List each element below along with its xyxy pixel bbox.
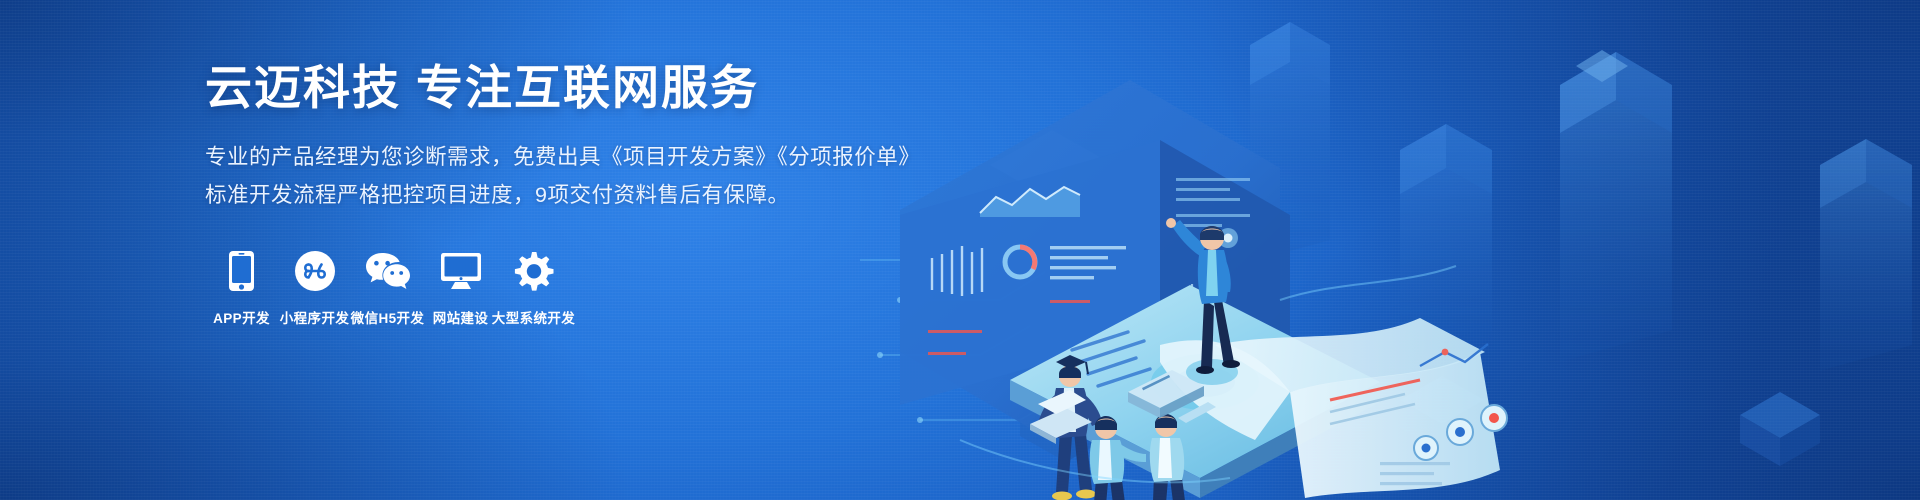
page-title: 云迈科技 专注互联网服务 — [205, 62, 965, 114]
wechat-icon — [365, 248, 411, 294]
service-icon-row: APP开发 小程序开发 — [205, 248, 965, 327]
service-label: APP开发 — [213, 307, 270, 327]
banner-content: 云迈科技 专注互联网服务 专业的产品经理为您诊断需求，免费出具《项目开发方案》《… — [205, 62, 965, 327]
illustration-svg — [860, 0, 1920, 500]
service-item-miniprogram[interactable]: 小程序开发 — [278, 248, 351, 327]
service-label: 微信H5开发 — [351, 307, 425, 327]
monitor-icon — [440, 248, 482, 294]
hero-banner: 云迈科技 专注互联网服务 专业的产品经理为您诊断需求，免费出具《项目开发方案》《… — [0, 0, 1920, 500]
subtitle-line-2: 标准开发流程严格把控项目进度，9项交付资料售后有保障。 — [205, 178, 965, 213]
service-label: 大型系统开发 — [492, 307, 575, 327]
service-item-wechat[interactable]: 微信H5开发 — [351, 248, 424, 327]
service-item-website[interactable]: 网站建设 — [424, 248, 497, 327]
service-label: 网站建设 — [433, 307, 489, 327]
service-label: 小程序开发 — [280, 307, 350, 327]
service-item-app[interactable]: APP开发 — [205, 248, 278, 327]
mini-program-icon — [294, 248, 336, 294]
mobile-phone-icon — [228, 248, 255, 294]
hero-illustration — [860, 0, 1920, 500]
service-item-system[interactable]: 大型系统开发 — [497, 248, 570, 327]
gear-icon — [513, 248, 555, 294]
subtitle-line-1: 专业的产品经理为您诊断需求，免费出具《项目开发方案》《分项报价单》 — [205, 140, 965, 175]
